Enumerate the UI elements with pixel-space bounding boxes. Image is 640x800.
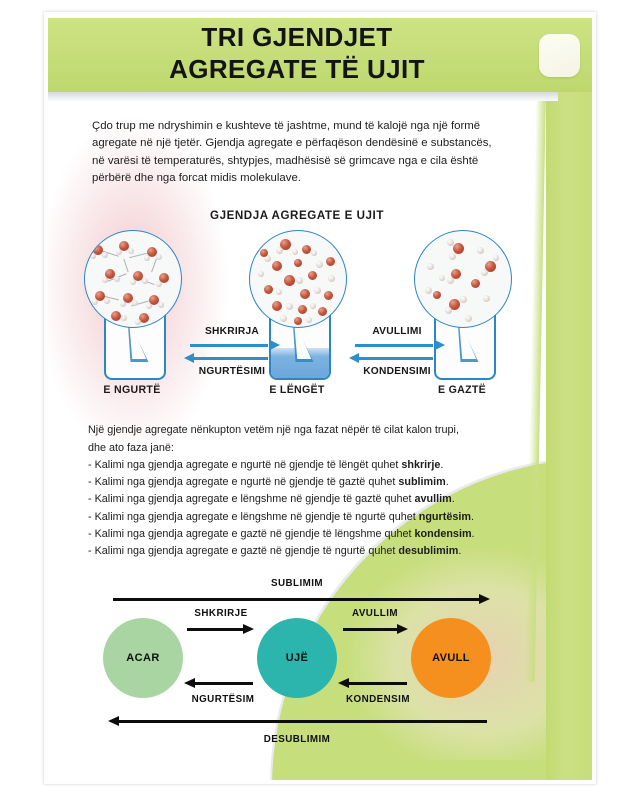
flow-node-label: AVULL (432, 652, 470, 664)
phase-item: - Kalimi nga gjendja agregate e ngurtë n… (88, 474, 506, 491)
phases-lead-1: Një gjendje agregate nënkupton vetëm një… (88, 422, 506, 439)
phases-lead-2: dhe ato faza janë: (88, 440, 506, 457)
flow-node-acar: ACAR (103, 618, 183, 698)
phase-item: - Kalimi nga gjendja agregate e ngurtë n… (88, 457, 506, 474)
flow-label-sublimim: SUBLIMIM (73, 578, 521, 589)
transition-label-kondensimi: KONDENSIMI (349, 366, 445, 377)
title-line-1: TRI GJENDJET (48, 22, 546, 54)
transition-label-ngurtesimi: NGURTËSIMI (184, 366, 280, 377)
green-band-shadow (48, 92, 558, 101)
flow-node-avull: AVULL (411, 618, 491, 698)
phase-item: - Kalimi nga gjendja agregate e lëngshme… (88, 509, 506, 526)
intro-paragraph: Çdo trup me ndryshimin e kushteve të jas… (92, 118, 502, 187)
flow-arrow-shkrirje-shaft (187, 628, 245, 630)
flow-label-shkrirje: SHKRIRJE (185, 608, 257, 619)
title-line-2: AGREGATE TË UJIT (48, 54, 546, 86)
transition-label-avullimi: AVULLIMI (349, 326, 445, 337)
magnified-view-liquid (249, 230, 347, 328)
flow-arrow-desublimim-head (108, 716, 119, 726)
flow-label-avullim: AVULLIM (339, 608, 411, 619)
phase-flow-diagram: SUBLIMIM ACAR UJË AVULL SHKRIRJE AVULLIM (73, 578, 521, 750)
states-heading: GJENDJA AGREGATE E UJIT (48, 209, 546, 222)
content-area: Çdo trup me ndryshimin e kushteve të jas… (48, 102, 546, 750)
beaker-label-gas: E GAZTË (406, 384, 518, 396)
beaker-label-liquid: E LËNGËT (241, 384, 353, 396)
paper: TRI GJENDJET AGREGATE TË UJIT Çdo trup m… (48, 16, 592, 780)
transition-solid-liquid: SHKRIRJA NGURTËSIMI (184, 326, 280, 377)
flow-arrow-desublimim-shaft (119, 720, 487, 722)
green-right-strip (546, 18, 592, 780)
flow-label-kondensim: KONDENSIM (333, 694, 423, 705)
flow-arrow-shkrirje-head (243, 624, 254, 634)
beakers-diagram: E NGURTË (72, 230, 522, 410)
flow-label-ngurtesim: NGURTËSIM (181, 694, 265, 705)
magnified-view-gas (414, 230, 512, 328)
phases-list: Një gjendje agregate nënkupton vetëm një… (88, 422, 506, 560)
poster-canvas: TRI GJENDJET AGREGATE TË UJIT Çdo trup m… (0, 0, 640, 800)
beaker-label-solid: E NGURTË (76, 384, 188, 396)
flow-arrow-avullim-shaft (343, 628, 399, 630)
arrow-backward-condensation (349, 353, 445, 363)
flow-arrow-sublimim-shaft (113, 598, 483, 600)
flow-label-desublimim: DESUBLIMIM (73, 734, 521, 745)
page-title: TRI GJENDJET AGREGATE TË UJIT (48, 22, 546, 85)
phase-item: - Kalimi nga gjendja agregate e gaztë në… (88, 543, 506, 560)
phase-item: - Kalimi nga gjendja agregate e gaztë në… (88, 526, 506, 543)
flow-node-uje: UJË (257, 618, 337, 698)
flow-node-label: UJË (286, 652, 309, 664)
transition-liquid-gas: AVULLIMI KONDENSIMI (349, 326, 445, 377)
flow-arrow-avullim-head (397, 624, 408, 634)
transition-label-shkrirja: SHKRIRJA (184, 326, 280, 337)
flow-arrow-kondensim-shaft (349, 682, 407, 684)
flow-arrow-sublimim-head (479, 594, 490, 604)
arrow-forward-melting (184, 340, 280, 350)
flow-arrow-kondensim-head (338, 678, 349, 688)
magnified-view-solid (84, 230, 182, 328)
phase-item: - Kalimi nga gjendja agregate e lëngshme… (88, 491, 506, 508)
flow-arrow-ngurtesim-head (184, 678, 195, 688)
flow-arrow-ngurtesim-shaft (195, 682, 253, 684)
arrow-backward-freezing (184, 353, 280, 363)
arrow-forward-evaporation (349, 340, 445, 350)
flow-node-label: ACAR (126, 652, 159, 664)
